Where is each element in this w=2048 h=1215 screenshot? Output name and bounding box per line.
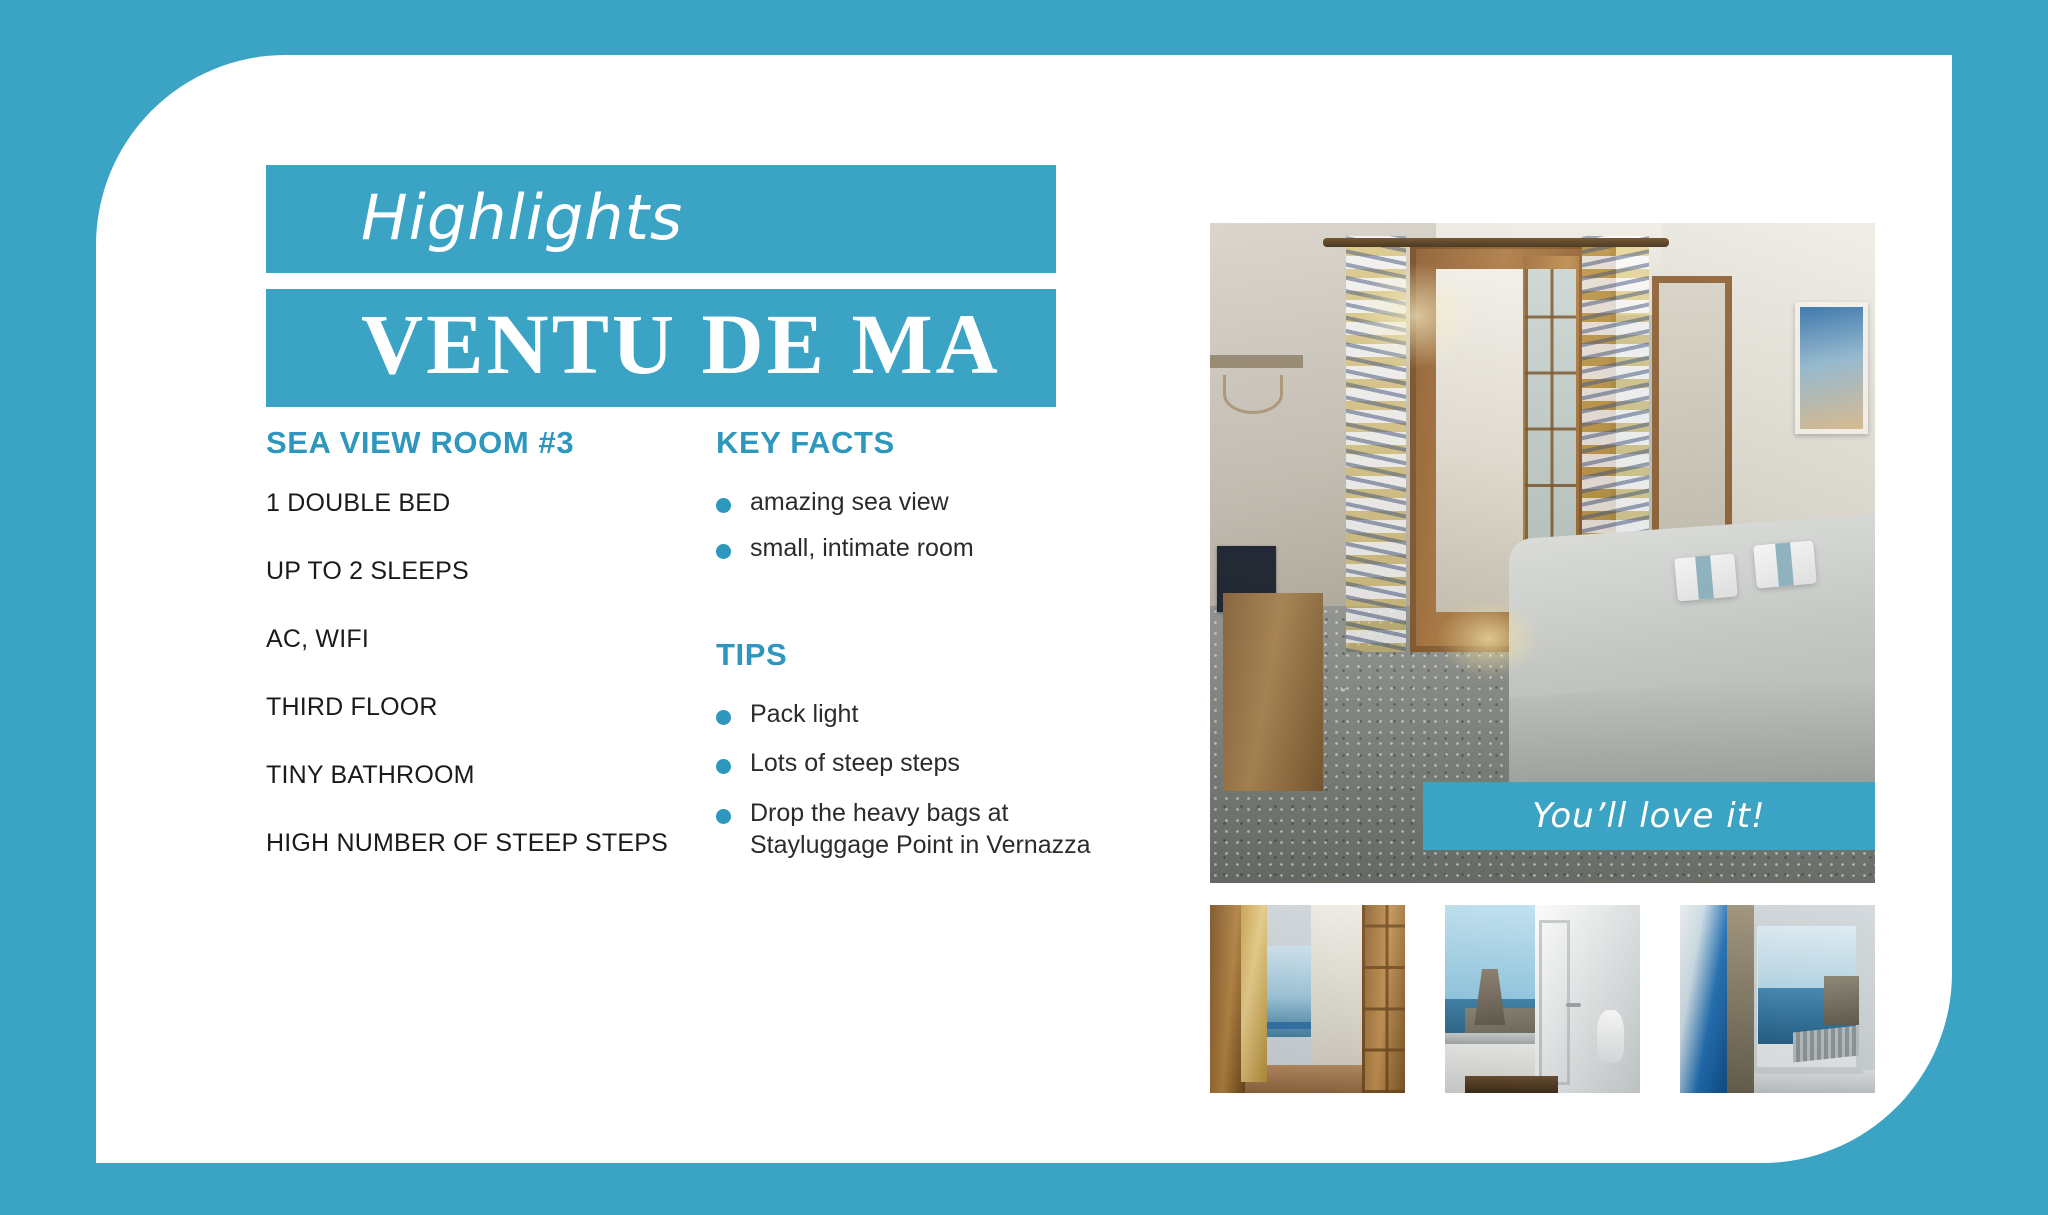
- tips-list: Pack light Lots of steep steps Drop the …: [716, 699, 1096, 862]
- key-facts-heading: KEY FACTS: [716, 425, 1096, 461]
- tips-item: Drop the heavy bags at Stayluggage Point…: [716, 798, 1096, 862]
- tips-block: TIPS Pack light Lots of steep steps Drop…: [716, 637, 1096, 862]
- thumb1-yellow-curtain: [1241, 905, 1266, 1082]
- thumb2-floor: [1465, 1076, 1559, 1093]
- script-title-band: Highlights: [266, 165, 1056, 273]
- room-specs-column: SEA VIEW ROOM #3 1 DOUBLE BED UP TO 2 SL…: [266, 425, 706, 897]
- thumb2-door-handle: [1566, 1003, 1582, 1008]
- thumb1-door-frame-right: [1362, 905, 1405, 1093]
- hero-sunlight-patch: [1436, 599, 1542, 678]
- hero-caption-band: You’ll love it!: [1423, 782, 1875, 850]
- key-facts-item: amazing sea view: [716, 487, 1096, 519]
- thumb3-rock-cliff: [1824, 976, 1859, 1025]
- room-spec-item: HIGH NUMBER OF STEEP STEPS: [266, 829, 706, 858]
- thumbnail-image-2[interactable]: [1445, 905, 1640, 1093]
- thumb2-wall-right: [1585, 905, 1640, 1093]
- main-title-band: VENTU DE MA: [266, 289, 1056, 407]
- thumb1-door-frame-left: [1210, 905, 1245, 1093]
- key-facts-item: small, intimate room: [716, 533, 1096, 565]
- room-spec-item: AC, WIFI: [266, 625, 706, 654]
- key-facts-and-tips-column: KEY FACTS amazing sea view small, intima…: [716, 425, 1096, 897]
- hero-caption-text: You’ll love it!: [1532, 796, 1765, 836]
- room-specs-heading: SEA VIEW ROOM #3: [266, 425, 706, 461]
- details-columns: SEA VIEW ROOM #3 1 DOUBLE BED UP TO 2 SL…: [266, 425, 1096, 897]
- tips-item: Lots of steep steps: [716, 748, 1096, 780]
- hero-framed-picture: [1795, 302, 1868, 434]
- room-spec-item: TINY BATHROOM: [266, 761, 706, 790]
- highlights-card: Highlights VENTU DE MA SEA VIEW ROOM #3 …: [96, 55, 1952, 1163]
- thumbnail-image-1[interactable]: [1210, 905, 1405, 1093]
- tips-item: Pack light: [716, 699, 1096, 731]
- tips-heading: TIPS: [716, 637, 1096, 673]
- key-facts-block: KEY FACTS amazing sea view small, intima…: [716, 425, 1096, 565]
- thumb3-cliff-left: [1723, 905, 1754, 1093]
- thumb3-blue-curtain: [1680, 905, 1727, 1093]
- header-block: Highlights VENTU DE MA: [266, 165, 1086, 407]
- room-spec-item: 1 DOUBLE BED: [266, 489, 706, 518]
- hero-shelf: [1210, 355, 1303, 368]
- thumbnail-image-3[interactable]: [1680, 905, 1875, 1093]
- hero-sunlight-patch: [1356, 263, 1476, 369]
- room-spec-item: UP TO 2 SLEEPS: [266, 557, 706, 586]
- hero-dresser: [1223, 593, 1323, 791]
- thumbnail-strip: [1210, 905, 1875, 1093]
- hero-curtain-rod: [1323, 238, 1669, 247]
- script-title: Highlights: [361, 181, 683, 254]
- thumb2-door: [1539, 920, 1570, 1085]
- room-spec-item: THIRD FLOOR: [266, 693, 706, 722]
- thumb1-wall: [1311, 905, 1362, 1067]
- page-title: VENTU DE MA: [361, 294, 1001, 394]
- key-facts-list: amazing sea view small, intimate room: [716, 487, 1096, 565]
- thumb2-toilet: [1597, 1010, 1624, 1063]
